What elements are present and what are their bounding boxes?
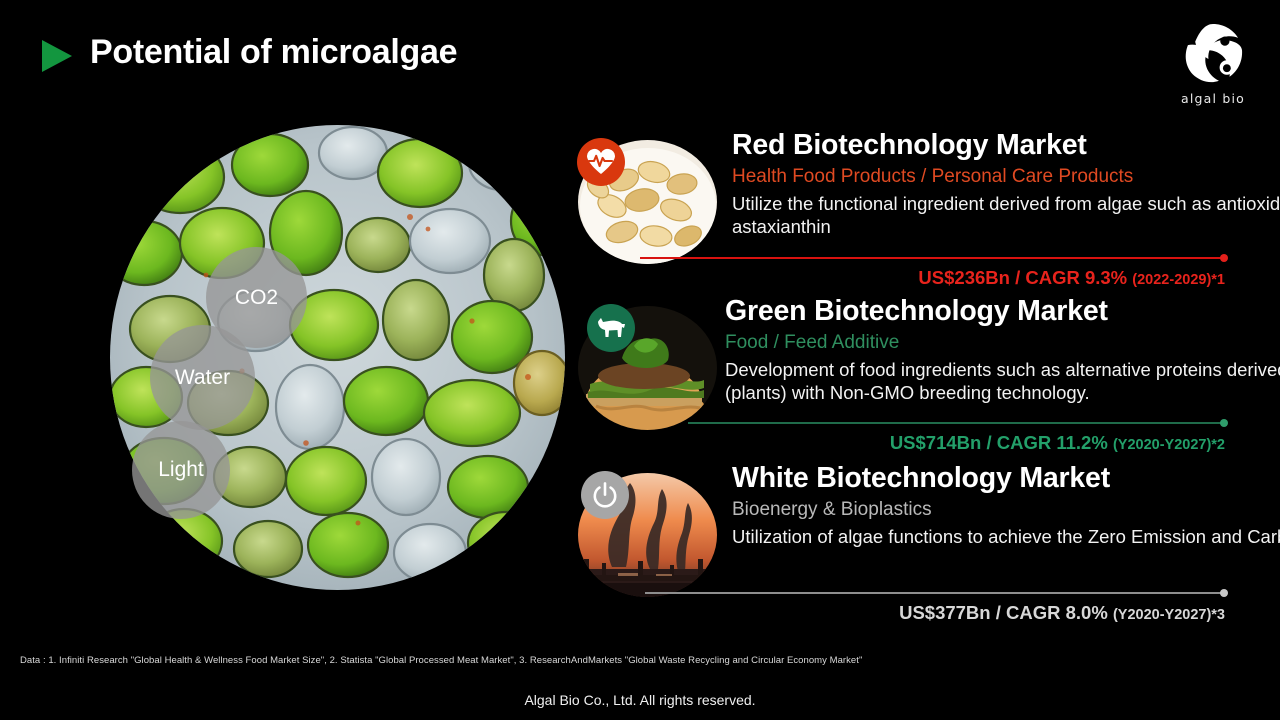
market-title: White Biotechnology Market <box>732 463 1280 495</box>
input-bubble-light: Light <box>132 421 230 519</box>
brand-logo: algal bio <box>1170 20 1256 106</box>
metric-label: US$236Bn / CAGR 9.3% (2022-2029)*1 <box>640 267 1225 289</box>
market-subtitle: Health Food Products / Personal Care Pro… <box>732 164 1280 190</box>
metric-bar <box>645 592 1225 594</box>
metric-period: (Y2020-Y2027)*3 <box>1113 607 1225 623</box>
market-text-red: Red Biotechnology Market Health Food Pro… <box>732 130 1280 239</box>
slide-canvas: Potential of microalgae algal bio <box>0 0 1280 720</box>
source-citation: Data : 1. Infiniti Research "Global Heal… <box>20 655 862 666</box>
market-text-white: White Biotechnology Market Bioenergy & B… <box>732 463 1280 548</box>
metric-endpoint-dot <box>1220 419 1228 427</box>
metric-bar <box>640 257 1225 259</box>
market-metric-green: US$714Bn / CAGR 11.2% (Y2020-Y2027)*2 <box>688 422 1225 454</box>
logo-wordmark: algal bio <box>1170 91 1256 106</box>
input-bubble-water: Water <box>150 325 255 430</box>
heart-pulse-icon <box>577 138 625 186</box>
market-text-green: Green Biotechnology Market Food / Feed A… <box>725 296 1280 405</box>
metric-bar <box>688 422 1225 424</box>
market-description: Utilize the functional ingredient derive… <box>732 192 1280 239</box>
market-subtitle: Bioenergy & Bioplastics <box>732 497 1280 523</box>
market-metric-red: US$236Bn / CAGR 9.3% (2022-2029)*1 <box>640 257 1225 289</box>
metric-endpoint-dot <box>1220 589 1228 597</box>
input-bubble-label: Water <box>175 366 230 390</box>
microalgae-visual: CO2 Water Light <box>110 125 570 590</box>
market-title: Red Biotechnology Market <box>732 130 1280 162</box>
metric-progress-line <box>645 592 1225 594</box>
metric-value: US$714Bn / CAGR 11.2% <box>890 432 1108 453</box>
market-thumbnail-wrap <box>575 304 720 432</box>
input-bubble-label: Light <box>158 458 204 482</box>
metric-progress-line <box>640 257 1225 259</box>
market-subtitle: Food / Feed Additive <box>725 330 1280 356</box>
market-description: Utilization of algae functions to achiev… <box>732 525 1280 549</box>
market-metric-white: US$377Bn / CAGR 8.0% (Y2020-Y2027)*3 <box>645 592 1225 624</box>
metric-endpoint-dot <box>1220 254 1228 262</box>
metric-progress-line <box>688 422 1225 424</box>
market-thumbnail-wrap <box>575 138 720 266</box>
market-description: Development of food ingredients such as … <box>725 358 1280 405</box>
metric-value: US$377Bn / CAGR 8.0% <box>899 602 1108 623</box>
copyright-notice: Algal Bio Co., Ltd. All rights reserved. <box>0 692 1280 708</box>
metric-period: (2022-2029)*1 <box>1132 272 1225 288</box>
page-title: Potential of microalgae <box>90 33 457 72</box>
metric-value: US$236Bn / CAGR 9.3% <box>918 267 1127 288</box>
input-bubble-label: CO2 <box>235 286 278 310</box>
play-triangle-icon <box>42 40 72 72</box>
metric-label: US$714Bn / CAGR 11.2% (Y2020-Y2027)*2 <box>688 432 1225 454</box>
slide-header: Potential of microalgae <box>0 0 1280 110</box>
cow-icon <box>587 304 635 352</box>
algal-bio-logo-icon <box>1180 20 1246 86</box>
market-title: Green Biotechnology Market <box>725 296 1280 328</box>
metric-label: US$377Bn / CAGR 8.0% (Y2020-Y2027)*3 <box>645 602 1225 624</box>
power-icon <box>581 471 629 519</box>
metric-period: (Y2020-Y2027)*2 <box>1113 437 1225 453</box>
market-thumbnail-wrap <box>575 471 720 599</box>
